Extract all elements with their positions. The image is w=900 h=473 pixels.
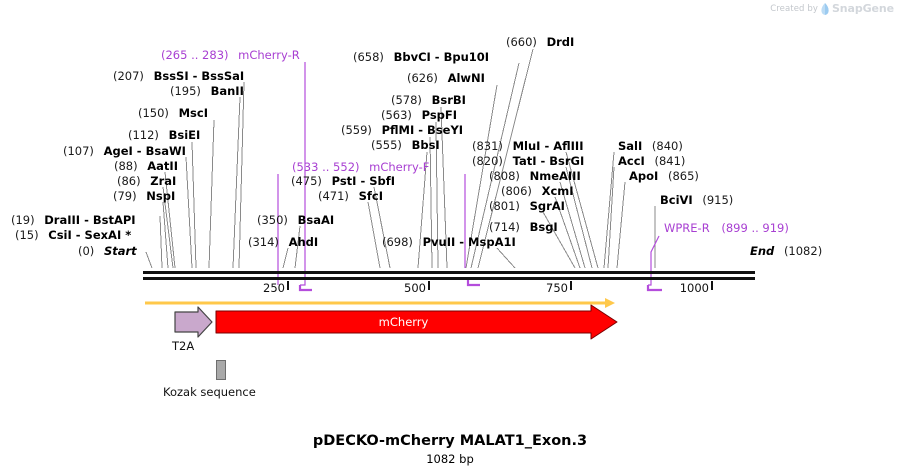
site-label-nmeaiii[interactable]: (808) NmeAIII xyxy=(489,170,581,182)
site-label-sfci[interactable]: (471) SfcI xyxy=(318,190,383,202)
site-label-draiii-bstapi[interactable]: (19) DraIII - BstAPI xyxy=(11,214,136,226)
ruler-tick-1000 xyxy=(711,281,713,290)
backbone-line-top xyxy=(143,271,755,274)
site-label-bbsi[interactable]: (555) BbsI xyxy=(371,139,440,151)
site-label-bcivi[interactable]: BciVI (915) xyxy=(660,194,733,206)
feature-label-t2a: T2A xyxy=(172,339,194,353)
site-label-drdi[interactable]: (660) DrdI xyxy=(506,36,574,48)
site-label-zrai[interactable]: (86) ZraI xyxy=(117,175,176,187)
ruler-tick-label-500: 500 xyxy=(404,281,426,295)
site-label-bsaai[interactable]: (350) BsaAI xyxy=(257,214,334,226)
backbone-line-bottom xyxy=(143,277,755,280)
ruler-tick-750 xyxy=(570,281,572,290)
snapgene-flask-icon xyxy=(821,3,829,15)
site-label-psti-sbfi[interactable]: (475) PstI - SbfI xyxy=(291,175,395,187)
ruler-tick-label-250: 250 xyxy=(263,281,285,295)
map-subtitle: 1082 bp xyxy=(0,452,900,466)
site-label-bsgi[interactable]: (714) BsgI xyxy=(489,221,558,233)
site-label-alwni[interactable]: (626) AlwNI xyxy=(407,72,485,84)
primer-label-wpre-r[interactable]: WPRE-R (899 .. 919) xyxy=(664,222,789,234)
site-label-pflmi-bseyi[interactable]: (559) PflMI - BseYI xyxy=(341,124,463,136)
ruler-tick-label-750: 750 xyxy=(546,281,568,295)
site-label-agei-bsawi[interactable]: (107) AgeI - BsaWI xyxy=(63,145,186,157)
sequence-end-label: End (1082) xyxy=(750,245,822,257)
site-label-csii-sexai[interactable]: (15) CsiI - SexAI * xyxy=(15,229,131,241)
site-label-tati-bsrgi[interactable]: (820) TatI - BsrGI xyxy=(472,155,584,167)
watermark-brand-label: SnapGene xyxy=(832,2,894,15)
watermark-created-by-label: Created by xyxy=(770,4,818,14)
site-label-acci[interactable]: AccI (841) xyxy=(618,155,685,167)
site-label-msci[interactable]: (150) MscI xyxy=(138,107,208,119)
site-label-bsssi-bsssai[interactable]: (207) BssSI - BssSaI xyxy=(113,70,244,82)
site-label-bsiei[interactable]: (112) BsiEI xyxy=(128,129,200,141)
ruler-tick-label-1000: 1000 xyxy=(680,281,709,295)
map-title: pDECKO-mCherry MALAT1_Exon.3 xyxy=(0,433,900,449)
snapgene-watermark: Created by SnapGene xyxy=(770,2,894,15)
feature-box-kozak[interactable] xyxy=(216,360,226,380)
feature-label-kozak: Kozak sequence xyxy=(163,385,256,399)
feature-label-mcherry: mCherry xyxy=(216,317,591,329)
ruler-tick-500 xyxy=(428,281,430,290)
primer-label-mcherry-r[interactable]: (265 .. 283) mCherry-R xyxy=(161,49,300,61)
site-label-pvuii-mspa1i[interactable]: (698) PvuII - MspA1I xyxy=(382,236,516,248)
ruler-tick-250 xyxy=(287,281,289,290)
site-label-bbvci-bpu10i[interactable]: (658) BbvCI - Bpu10I xyxy=(353,51,489,63)
site-label-nspi[interactable]: (79) NspI xyxy=(113,190,175,202)
sequence-start-label: (0) Start xyxy=(78,245,137,257)
site-label-sali[interactable]: SalI (840) xyxy=(618,140,683,152)
primer-label-mcherry-f[interactable]: (533 .. 552) mCherry-F xyxy=(292,161,429,173)
site-label-banii[interactable]: (195) BanII xyxy=(170,85,244,97)
site-label-pspfi[interactable]: (563) PspFI xyxy=(381,109,457,121)
site-label-bsrbi[interactable]: (578) BsrBI xyxy=(391,94,466,106)
plasmid-map-canvas: Created by SnapGene xyxy=(0,0,900,473)
site-label-apoi[interactable]: ApoI (865) xyxy=(629,170,699,182)
site-label-sgrai[interactable]: (801) SgrAI xyxy=(489,200,565,212)
site-label-ahdi[interactable]: (314) AhdI xyxy=(248,236,318,248)
site-label-mlui-afliii[interactable]: (831) MluI - AflIII xyxy=(472,140,584,152)
site-label-xcmi[interactable]: (806) XcmI xyxy=(501,185,574,197)
site-label-aatii[interactable]: (88) AatII xyxy=(114,160,178,172)
